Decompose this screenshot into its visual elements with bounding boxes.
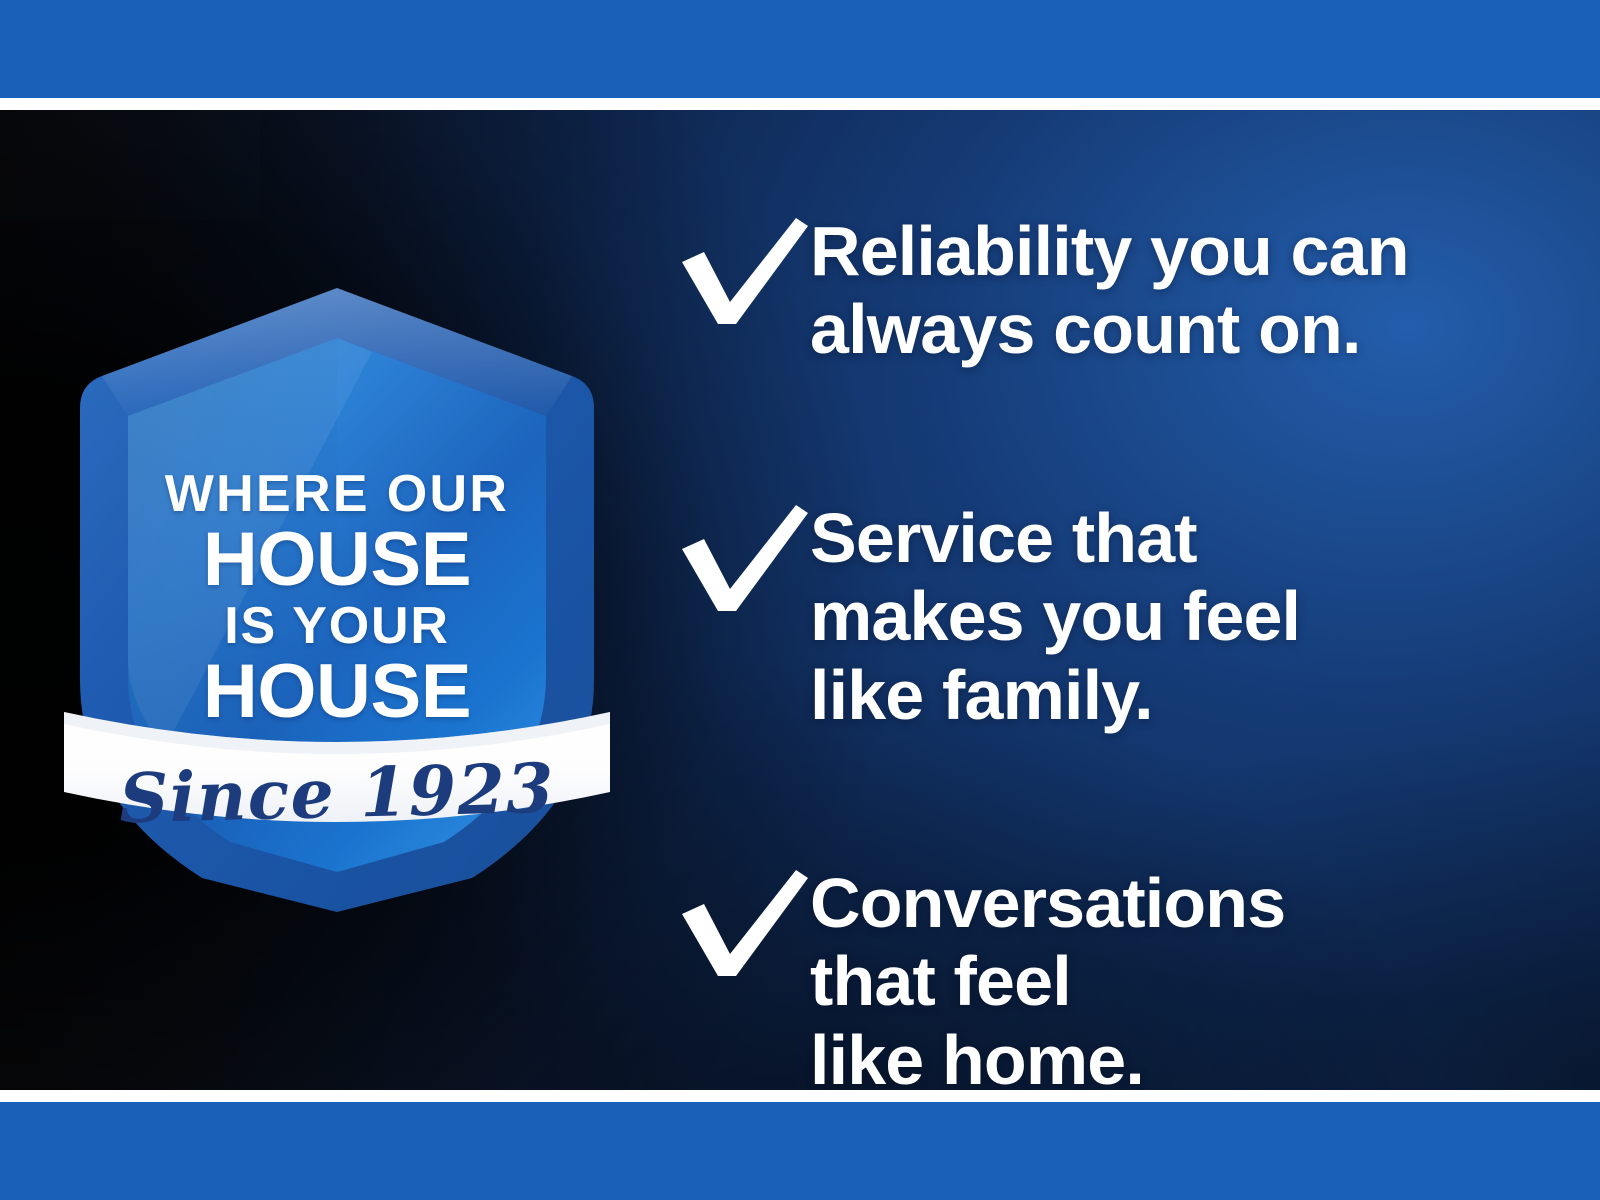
benefit-text: Service that makes you feel like family. — [810, 497, 1540, 734]
check-icon-wrap — [660, 210, 810, 330]
benefit-item: Service that makes you feel like family. — [660, 497, 1540, 734]
benefit-line: makes you feel — [810, 577, 1540, 655]
benefit-text: Reliability you can always count on. — [810, 210, 1540, 369]
top-white-divider — [0, 98, 1600, 110]
benefit-line: Conversations — [810, 864, 1540, 942]
check-icon — [678, 216, 810, 328]
badge-line-4: HOUSE — [72, 654, 602, 730]
benefit-text: Conversations that feel like home. — [810, 862, 1540, 1090]
check-icon — [678, 868, 810, 980]
benefit-line: Reliability you can — [810, 212, 1540, 290]
badge-line-2: HOUSE — [72, 522, 602, 598]
badge-line-3: IS YOUR — [72, 600, 602, 652]
benefit-line: always count on. — [810, 290, 1540, 368]
benefit-line: like family. — [810, 656, 1540, 734]
badge-line-1: WHERE OUR — [72, 468, 602, 520]
check-icon-wrap — [660, 497, 810, 617]
benefit-line: like home. — [810, 1021, 1540, 1090]
benefit-item: Reliability you can always count on. — [660, 210, 1540, 369]
poster-stage: WHERE OUR HOUSE IS YOUR HOUSE Since 1923… — [0, 110, 1600, 1090]
badge-ribbon-text: Since 1923 — [71, 754, 603, 835]
benefit-line: Service that — [810, 499, 1540, 577]
bottom-white-divider — [0, 1090, 1600, 1102]
benefit-item: Conversations that feel like home. — [660, 862, 1540, 1090]
benefit-line: that feel — [810, 942, 1540, 1020]
top-brand-bar — [0, 0, 1600, 98]
check-icon-wrap — [660, 862, 810, 982]
shield-badge: WHERE OUR HOUSE IS YOUR HOUSE Since 1923 — [72, 280, 602, 920]
promo-poster: WHERE OUR HOUSE IS YOUR HOUSE Since 1923… — [0, 0, 1600, 1200]
check-icon — [678, 503, 810, 615]
bottom-brand-bar — [0, 1102, 1600, 1200]
benefits-list: Reliability you can always count on. Ser… — [660, 210, 1540, 1090]
